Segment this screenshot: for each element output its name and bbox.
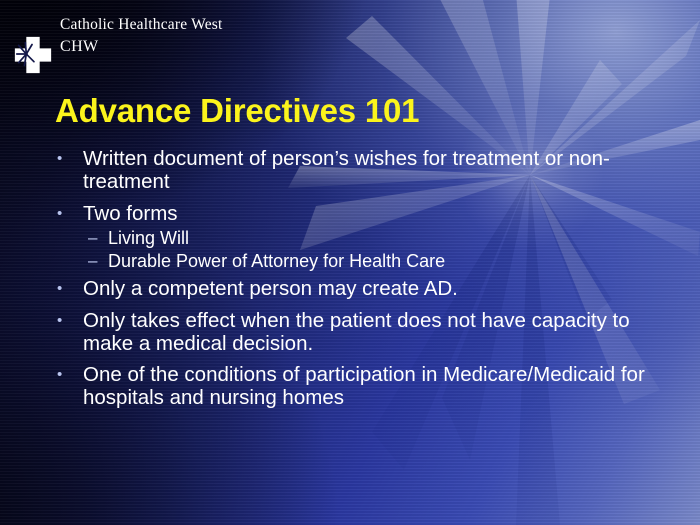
sub-bullet-text: Living Will: [108, 228, 655, 249]
bullet-marker-icon: •: [55, 203, 83, 225]
bullet-marker-icon: •: [55, 310, 83, 332]
sub-bullet-group: – Living Will – Durable Power of Attorne…: [55, 228, 655, 272]
logo-organization-name: Catholic Healthcare West: [60, 16, 223, 33]
bullet-item: • One of the conditions of participation…: [55, 364, 655, 410]
dash-marker-icon: –: [88, 228, 108, 247]
logo-abbreviation: CHW: [60, 37, 223, 57]
cross-with-starburst-icon: [12, 34, 54, 76]
bullet-text: Only takes effect when the patient does …: [83, 310, 655, 356]
chw-logo: Catholic Healthcare West CHW: [12, 16, 223, 76]
bullet-marker-icon: •: [55, 364, 83, 386]
bullet-item: • Only takes effect when the patient doe…: [55, 310, 655, 356]
bullet-text: Two forms: [83, 203, 655, 226]
dash-marker-icon: –: [88, 251, 108, 270]
bullet-text: Only a competent person may create AD.: [83, 278, 655, 301]
slide-body: • Written document of person’s wishes fo…: [55, 148, 655, 419]
bullet-marker-icon: •: [55, 148, 83, 170]
bullet-text: One of the conditions of participation i…: [83, 364, 655, 410]
sub-bullet-text: Durable Power of Attorney for Health Car…: [108, 251, 655, 272]
bullet-text: Written document of person’s wishes for …: [83, 148, 655, 194]
slide-title: Advance Directives 101: [55, 92, 419, 130]
bullet-item: • Written document of person’s wishes fo…: [55, 148, 655, 194]
bullet-marker-icon: •: [55, 278, 83, 300]
bullet-item: • Only a competent person may create AD.: [55, 278, 655, 301]
sub-bullet-item: – Living Will: [88, 228, 655, 249]
presentation-slide: Catholic Healthcare West CHW Advance Dir…: [0, 0, 700, 525]
bullet-item: • Two forms: [55, 203, 655, 226]
sub-bullet-item: – Durable Power of Attorney for Health C…: [88, 251, 655, 272]
